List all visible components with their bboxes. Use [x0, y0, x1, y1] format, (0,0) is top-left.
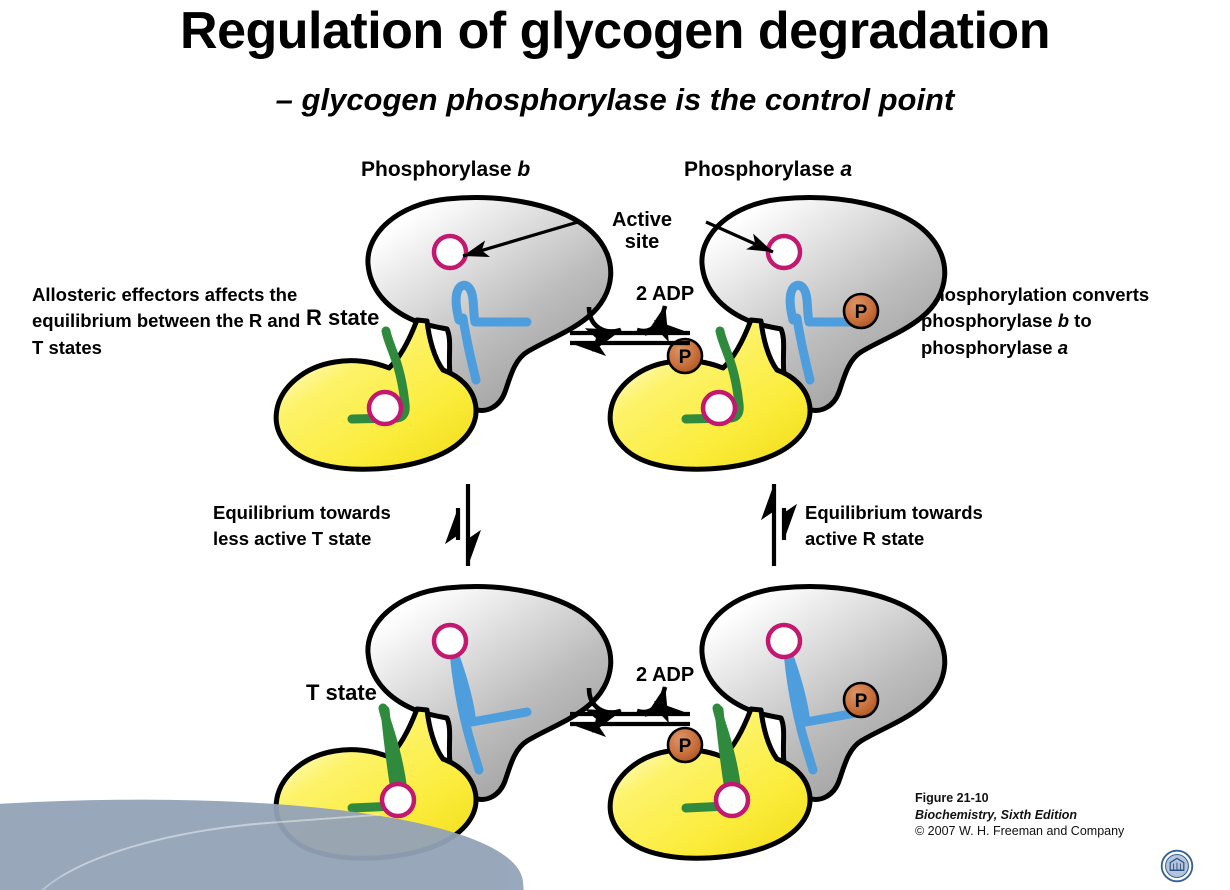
column-header-phosphorylase-b: Phosphorylase b: [361, 158, 530, 182]
equilibrium-note-left-line-1: Equilibrium towards: [213, 500, 391, 526]
credit-copyright: © 2007 W. H. Freeman and Company: [915, 823, 1124, 840]
label-atp-bottom: 2 ATP: [556, 664, 610, 687]
blue-tail: [790, 285, 861, 322]
label-atp-top: 2 ATP: [556, 283, 610, 306]
lower-subunit-yellow: [610, 709, 810, 858]
page-title: Regulation of glycogen degradation: [0, 4, 1230, 59]
label-active-site-line-2: site: [582, 231, 702, 253]
blue-tail: [452, 648, 527, 722]
header-a-italic: a: [840, 158, 852, 181]
label-adp-bottom: 2 ADP: [636, 664, 694, 687]
label-t-state: T state: [306, 680, 377, 706]
equilibrium-note-left-line-2: less active T state: [213, 526, 391, 552]
green-tail: [686, 331, 739, 419]
note-right-line-1: Phosphorylation converts: [921, 282, 1201, 308]
label-adp-top: 2 ADP: [636, 283, 694, 306]
credit-book: Biochemistry, Sixth Edition: [915, 807, 1124, 824]
lower-subunit-yellow: [276, 320, 476, 469]
vertical-equilibrium-left: [458, 484, 468, 566]
active-site-upper: [434, 236, 466, 268]
phosphate-badge-label: P: [679, 736, 692, 757]
page-subtitle: – glycogen phosphorylase is the control …: [0, 82, 1230, 118]
lower-subunit-yellow: [610, 320, 810, 469]
note-phosphorylation-converts: Phosphorylation converts phosphorylase b…: [921, 282, 1201, 361]
equilibrium-note-right-line-2: active R state: [805, 526, 983, 552]
note-right-line-3: phosphorylase a: [921, 335, 1201, 361]
green-tail: [352, 331, 405, 419]
university-seal-logo: [1160, 849, 1194, 883]
phosphate-badge-blue-tail: P: [844, 683, 878, 717]
curved-arrow-atp-in: [589, 688, 621, 712]
blue-tail-descender: [788, 650, 813, 770]
active-site-upper: [768, 625, 800, 657]
note-right-line-3-pre: phosphorylase: [921, 337, 1058, 358]
label-active-site: Active site: [582, 209, 702, 254]
active-site-lower: [716, 784, 748, 816]
green-tail-descender: [385, 710, 396, 796]
header-a-text: Phosphorylase: [684, 158, 840, 181]
phosphate-badge-label: P: [679, 347, 692, 368]
equilibrium-note-right: Equilibrium towards active R state: [805, 500, 983, 551]
upper-subunit-gray: [702, 587, 945, 800]
blue-tail: [456, 285, 527, 322]
upper-subunit-gray: [702, 198, 945, 411]
figure-credit: Figure 21-10 Biochemistry, Sixth Edition…: [915, 790, 1124, 840]
phosphate-badge-green-tail: P: [668, 728, 702, 762]
phosphate-badge-green-tail: P: [668, 339, 702, 373]
slide-canvas: Regulation of glycogen degradation – gly…: [0, 0, 1230, 890]
note-right-line-2-pre: phosphorylase: [921, 310, 1058, 331]
active-site-lower: [703, 392, 735, 424]
blue-tail-descender: [463, 318, 476, 380]
header-b-italic: b: [517, 158, 530, 181]
decorative-band: [0, 766, 524, 890]
phosphate-badge-label: P: [855, 691, 868, 712]
reaction-arrows-top: [570, 306, 690, 343]
vertical-equilibrium-right: [774, 484, 784, 566]
reaction-arrows-bottom: [570, 687, 690, 724]
header-b-text: Phosphorylase: [361, 158, 517, 181]
leader-line-left: [463, 222, 578, 256]
equilibrium-note-right-line-1: Equilibrium towards: [805, 500, 983, 526]
note-allosteric-effectors: Allosteric effectors affects the equilib…: [32, 282, 302, 361]
active-site-lower: [369, 392, 401, 424]
green-tail: [352, 708, 403, 808]
curved-arrow-adp-out: [637, 306, 665, 331]
active-site-lower: [382, 784, 414, 816]
note-right-line-2: phosphorylase b to: [921, 308, 1201, 334]
diagram-svg: P P: [0, 0, 1230, 890]
label-r-state: R state: [306, 305, 379, 331]
note-right-line-3-italic: a: [1058, 337, 1068, 358]
blue-tail-descender: [797, 318, 810, 380]
equilibrium-note-left: Equilibrium towards less active T state: [213, 500, 391, 551]
structure-phosphorylase-b-r-state: [276, 198, 611, 470]
blue-tail: [786, 648, 861, 722]
label-active-site-line-1: Active: [582, 209, 702, 231]
upper-subunit-gray: [368, 587, 611, 800]
blue-tail-descender: [454, 650, 479, 770]
note-right-line-2-post: to: [1069, 310, 1092, 331]
curved-arrow-adp-out: [637, 687, 665, 712]
leader-line-right: [706, 222, 773, 252]
active-site-upper: [768, 236, 800, 268]
phosphate-badge-label: P: [855, 302, 868, 323]
note-right-line-2-italic: b: [1058, 310, 1069, 331]
column-header-phosphorylase-a: Phosphorylase a: [684, 158, 852, 182]
phosphate-badge-blue-tail: P: [844, 294, 878, 328]
active-site-upper: [434, 625, 466, 657]
curved-arrow-atp-in: [589, 307, 621, 331]
structure-t-state-phosphorylated: P P: [610, 587, 945, 859]
green-tail-descender: [719, 710, 730, 796]
green-tail: [686, 708, 737, 808]
credit-figure: Figure 21-10: [915, 790, 1124, 807]
